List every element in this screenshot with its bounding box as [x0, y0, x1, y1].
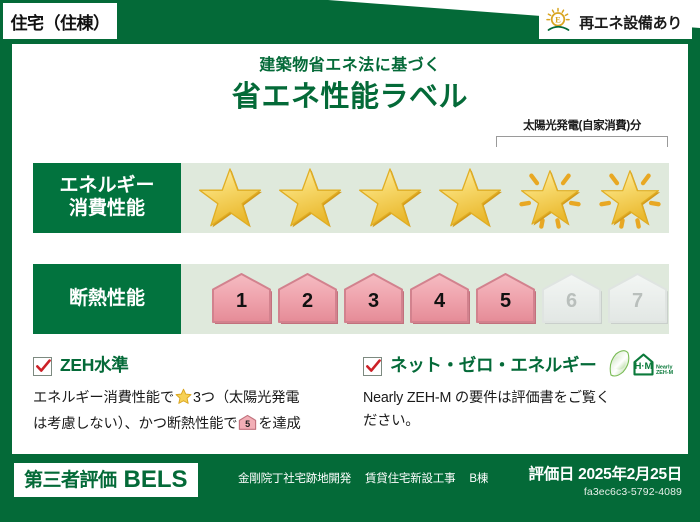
evaluation-date-label: 評価日: [529, 466, 575, 483]
zeh-desc-part-b: 3つ（太陽光発電: [193, 390, 299, 406]
net-zero-desc-line1: Nearly ZEH-M の要件は評価書をご覧く: [363, 390, 610, 406]
net-zero-checkbox: [363, 357, 382, 376]
solar-sun-icon: E: [545, 7, 573, 38]
insulation-grade-6: 6: [540, 271, 603, 327]
star-filled: [351, 163, 429, 233]
building-type-label: 住宅（住棟）: [11, 9, 110, 34]
zeh-standard-checkbox: [33, 357, 52, 376]
net-zero-desc-line2: ださい。: [363, 413, 419, 429]
insulation-performance-row: 断熱性能 1234567: [33, 264, 667, 334]
insulation-grade-1: 1: [210, 271, 273, 327]
inline-house-icon: 5: [238, 414, 257, 439]
svg-text:5: 5: [245, 419, 250, 429]
page-title: 省エネ性能ラベル: [0, 83, 700, 112]
star-filled: [271, 163, 349, 233]
zeh-standard-title: ZEH水準: [60, 357, 129, 375]
zeh-standard-block: ZEH水準 エネルギー消費性能で3つ（太陽光発電は考慮しない）、かつ断熱性能で5…: [33, 354, 333, 438]
insulation-grade-5: 5: [474, 271, 537, 327]
energy-rating-band: 太陽光発電(自家消費)分: [181, 163, 669, 233]
title-subtitle: 建築物省エネ法に基づく: [0, 58, 700, 74]
net-zero-title: ネット・ゼロ・エネルギー: [390, 357, 596, 375]
insulation-performance-label: 断熱性能: [33, 264, 181, 334]
star-rating-strip: [181, 163, 669, 233]
check-icon: [35, 358, 52, 375]
bels-certification-badge: 第三者評価 BELS: [14, 463, 198, 497]
zeh-standard-heading: ZEH水準: [33, 354, 333, 378]
zeh-desc-part-d: を達成: [258, 416, 300, 432]
inline-star-icon: [175, 388, 192, 413]
check-icon: [365, 358, 382, 375]
insulation-grade-2: 2: [276, 271, 339, 327]
insulation-rating-band: 1234567: [181, 264, 669, 334]
zeh-m-logo: H·M Nearly ZEH-M: [606, 349, 678, 384]
net-zero-description: Nearly ZEH-M の要件は評価書をご覧ください。: [363, 387, 663, 432]
evaluation-date-block: 評価日 2025年2月25日 fa3ec6c3-5792-4089: [529, 467, 682, 497]
building-type-tag: 住宅（住棟）: [3, 3, 117, 39]
project-work: 賃貸住宅新設工事: [365, 473, 455, 485]
zeh-desc-part-c: は考慮しない）、かつ断熱性能で: [33, 416, 237, 432]
star-filled: [431, 163, 509, 233]
project-info: 金剛院丁社宅跡地開発賃貸住宅新設工事B棟: [238, 470, 502, 486]
svg-text:ZEH-M: ZEH-M: [656, 370, 674, 376]
bels-en-label: BELS: [124, 468, 188, 492]
insulation-grade-number: 6: [540, 291, 603, 311]
net-zero-energy-block: ネット・ゼロ・エネルギー H·M Nearly ZEH-: [363, 354, 663, 432]
insulation-grade-number: 3: [342, 291, 405, 311]
insulation-grade-7: 7: [606, 271, 669, 327]
project-building: B棟: [469, 473, 488, 485]
insulation-grade-number: 1: [210, 291, 273, 311]
net-zero-heading: ネット・ゼロ・エネルギー H·M Nearly ZEH-: [363, 354, 663, 378]
insulation-label-text: 断熱性能: [69, 288, 145, 311]
project-name: 金剛院丁社宅跡地開発: [238, 473, 351, 485]
svg-text:E: E: [555, 14, 561, 24]
svg-text:H·M: H·M: [635, 361, 653, 372]
insulation-grade-number: 2: [276, 291, 339, 311]
evaluation-id: fa3ec6c3-5792-4089: [529, 487, 682, 498]
renewable-badge-label: 再エネ設備あり: [579, 12, 682, 33]
evaluation-date-line: 評価日 2025年2月25日: [529, 467, 682, 483]
star-solar: [511, 163, 589, 233]
zeh-desc-part-a: エネルギー消費性能で: [33, 390, 174, 406]
energy-performance-label: エネルギー 消費性能: [33, 163, 181, 233]
insulation-grade-4: 4: [408, 271, 471, 327]
star-filled: [191, 163, 269, 233]
renewable-equipment-badge: E 再エネ設備あり: [539, 5, 692, 39]
star-solar: [591, 163, 669, 233]
energy-performance-label: 住宅（住棟） E 再エネ設備あり 建築物省エネ法に基づ: [0, 0, 700, 522]
energy-label-line1: エネルギー: [59, 175, 154, 198]
energy-performance-row: エネルギー 消費性能 太陽光発電(自家消費)分: [33, 163, 667, 233]
energy-label-line2: 消費性能: [69, 198, 145, 221]
title-block: 建築物省エネ法に基づく 省エネ性能ラベル: [0, 58, 700, 112]
insulation-grade-strip: 1234567: [181, 264, 669, 334]
bels-jp-label: 第三者評価: [24, 471, 117, 490]
zeh-standard-description: エネルギー消費性能で3つ（太陽光発電は考慮しない）、かつ断熱性能で5を達成: [33, 387, 333, 438]
evaluation-date-value: 2025年2月25日: [578, 466, 682, 483]
insulation-grade-number: 4: [408, 291, 471, 311]
insulation-grade-3: 3: [342, 271, 405, 327]
insulation-grade-number: 5: [474, 291, 537, 311]
insulation-grade-number: 7: [606, 291, 669, 311]
